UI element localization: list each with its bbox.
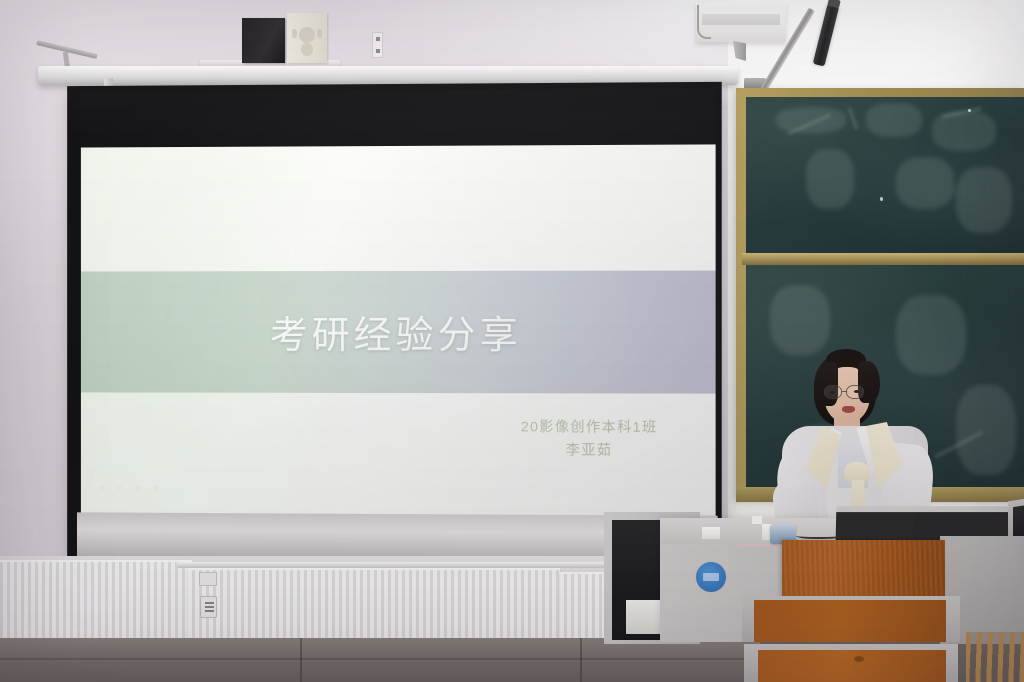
desk-item-white-tiny: [752, 516, 762, 524]
wooden-chair-legs: [966, 632, 1024, 682]
wall-junction-box[interactable]: [199, 572, 217, 586]
speaker-midrange-icon: [301, 43, 313, 56]
speaker-woofer-icon: [299, 27, 315, 43]
chalkboard-frame-divider: [742, 253, 1024, 265]
eye-left: [830, 391, 835, 394]
desk-wood-panel: [758, 650, 946, 682]
radiator-center: [188, 568, 560, 640]
glasses-bridge: [842, 391, 847, 392]
screen-surface: 考研经验分享 20影像创作本科1班 李亚茹 ▫ ▫ ◦ ▫: [81, 144, 716, 515]
student-desk-lower: [744, 644, 958, 682]
projection-screen: 考研经验分享 20影像创作本科1班 李亚茹 ▫ ▫ ◦ ▫: [67, 82, 722, 566]
lips: [842, 406, 855, 413]
slide-top-band: [81, 144, 716, 271]
wall-switch-plate[interactable]: [372, 32, 383, 58]
vent-cable: [697, 5, 711, 39]
boom-head-cap: [827, 0, 841, 8]
desk-item-white-small: [702, 527, 720, 539]
slide-credits: 20影像创作本科1班 李亚茹: [521, 415, 658, 462]
chalkboard-upper-panel: [746, 97, 1024, 253]
slide-credit-name: 李亚茹: [521, 438, 658, 462]
radiator-left: [0, 560, 192, 638]
vent-grille: [702, 14, 780, 25]
floor-tile-seam: [580, 638, 582, 682]
chalk-dot: [880, 197, 883, 201]
black-speaker: [242, 18, 285, 63]
laptop[interactable]: [836, 506, 1011, 540]
electrical-wall-socket[interactable]: [200, 596, 217, 618]
slide-title: 考研经验分享: [81, 271, 716, 394]
classroom-photo: 考研经验分享 20影像创作本科1班 李亚茹 ▫ ▫ ◦ ▫: [0, 0, 1024, 682]
socket-holes-icon: [205, 602, 214, 613]
student-desk-upper: [742, 596, 960, 642]
speaker-port-right-icon: [317, 29, 322, 38]
screen-dark-margin: [81, 88, 716, 148]
switch-screw-bottom: [376, 49, 380, 53]
floor-tile-seam: [300, 638, 302, 682]
floor-tile-line: [0, 658, 760, 660]
ghost-taskbar-icons: ▫ ▫ ◦ ▫: [100, 479, 163, 494]
chalk-dot: [968, 109, 971, 112]
switch-screw-top: [376, 37, 380, 41]
speaker-port-left-icon: [292, 29, 297, 38]
tiled-floor-left: [0, 638, 760, 682]
presentation-slide: 考研经验分享 20影像创作本科1班 李亚茹 ▫ ▫ ◦ ▫: [81, 144, 716, 515]
sticker-label-icon: [703, 573, 719, 581]
eye-right: [854, 390, 859, 393]
slide-credit-class: 20影像创作本科1班: [521, 415, 658, 439]
desk-knob: [854, 656, 864, 662]
desk-wood-panel: [754, 600, 946, 642]
cream-speaker: [287, 13, 327, 63]
blue-round-sticker: [696, 562, 726, 592]
